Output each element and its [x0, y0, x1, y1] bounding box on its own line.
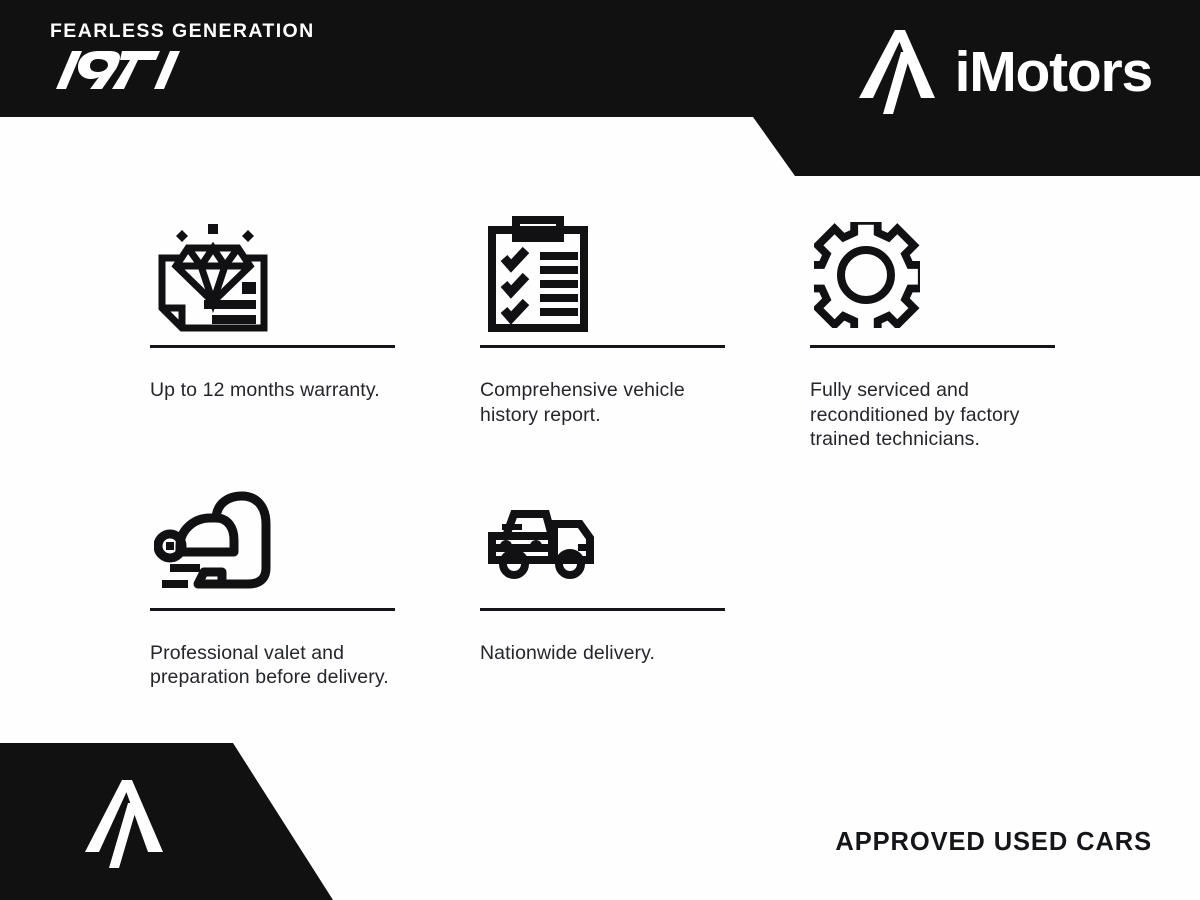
feature-divider	[150, 608, 395, 611]
feature-divider	[150, 345, 395, 348]
checklist-clipboard-icon	[480, 205, 725, 345]
slide-canvas: FEARLESS GENERATION	[0, 0, 1200, 900]
feature-cell-empty	[810, 480, 1055, 690]
feature-text-warranty: Up to 12 months warranty.	[150, 378, 395, 403]
features-row-1: Up to 12 months warranty.	[150, 205, 1100, 452]
feature-text-delivery: Nationwide delivery.	[480, 641, 725, 666]
brand-name-text: iMotors	[955, 44, 1152, 101]
approved-used-cars-text: APPROVED USED CARS	[835, 828, 1152, 857]
vacuum-cleaner-icon	[150, 480, 395, 608]
feature-text-history-report: Comprehensive vehicle history report.	[480, 378, 725, 427]
imotors-chevron-logo-icon	[859, 30, 935, 114]
fearless-generation-text: FEARLESS GENERATION	[50, 22, 470, 42]
brand-lockup: iMotors	[859, 30, 1152, 114]
feature-text-valet: Professional valet and preparation befor…	[150, 641, 395, 690]
feature-card-delivery: Nationwide delivery.	[480, 480, 725, 690]
warranty-certificate-icon	[150, 205, 395, 345]
header-bar: FEARLESS GENERATION	[0, 0, 1200, 178]
year-1971-logotype	[50, 47, 180, 93]
gear-icon	[810, 205, 1055, 345]
footer-imotors-chevron-logo-icon	[85, 780, 163, 868]
feature-card-history-report: Comprehensive vehicle history report.	[480, 205, 725, 452]
features-grid: Up to 12 months warranty.	[150, 205, 1100, 690]
feature-text-serviced: Fully serviced and reconditioned by fact…	[810, 378, 1055, 452]
feature-divider	[480, 345, 725, 348]
footer-black-shape	[0, 743, 340, 900]
feature-card-serviced: Fully serviced and reconditioned by fact…	[810, 205, 1055, 452]
car-transporter-truck-icon	[480, 480, 725, 608]
feature-card-valet: Professional valet and preparation befor…	[150, 480, 395, 690]
feature-divider	[480, 608, 725, 611]
features-row-2: Professional valet and preparation befor…	[150, 480, 1100, 690]
feature-divider	[810, 345, 1055, 348]
feature-card-warranty: Up to 12 months warranty.	[150, 205, 395, 452]
header-tagline-group: FEARLESS GENERATION	[50, 22, 470, 93]
